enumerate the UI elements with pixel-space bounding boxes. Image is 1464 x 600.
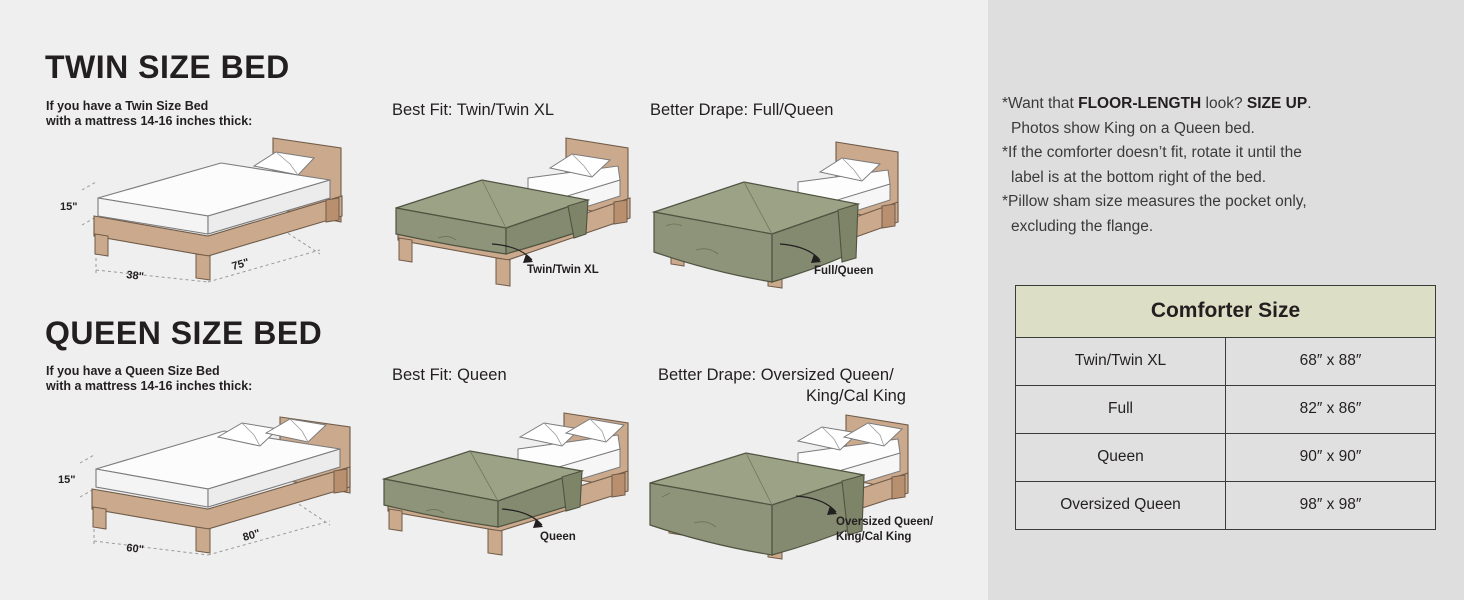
queen-better-drape-heading-line2: King/Cal King	[806, 386, 906, 407]
left-panel: TWIN SIZE BED If you have a Twin Size Be…	[0, 0, 988, 600]
comforter-size-table-body: Twin/Twin XL 68″ x 88″ Full 82″ x 86″ Qu…	[1016, 338, 1435, 530]
queen-better-drape-heading-line1: Better Drape: Oversized Queen/	[658, 365, 894, 386]
note-line-2: Photos show King on a Queen bed.	[1002, 117, 1454, 142]
table-row: Queen 90″ x 90″	[1016, 434, 1435, 482]
twin-section-subtitle-line1: If you have a Twin Size Bed	[46, 99, 208, 114]
table-row: Twin/Twin XL 68″ x 88″	[1016, 338, 1435, 386]
table-cell-measure: 98″ x 98″	[1226, 482, 1436, 530]
note-line-1: *Want that FLOOR-LENGTH look? SIZE UP.	[1002, 92, 1454, 117]
table-cell-size: Queen	[1016, 434, 1226, 482]
comforter-size-table: Comforter Size Twin/Twin XL 68″ x 88″ Fu…	[1015, 285, 1436, 530]
queen-better-drape-callout-line1: Oversized Queen/	[836, 515, 933, 529]
note-line-6: excluding the flange.	[1002, 215, 1454, 240]
queen-better-drape-callout-line2: King/Cal King	[836, 530, 911, 544]
queen-best-fit-bed-diagram	[370, 405, 640, 570]
right-panel: *Want that FLOOR-LENGTH look? SIZE UP. P…	[988, 0, 1464, 600]
twin-width-label: 38"	[126, 269, 145, 283]
twin-best-fit-heading: Best Fit: Twin/Twin XL	[392, 100, 554, 121]
table-cell-measure: 68″ x 88″	[1226, 338, 1436, 386]
queen-height-label: 15"	[58, 474, 75, 486]
note-line-3: *If the comforter doesn’t fit, rotate it…	[1002, 141, 1454, 166]
notes-block: *Want that FLOOR-LENGTH look? SIZE UP. P…	[1002, 92, 1454, 239]
queen-length-label: 80"	[242, 528, 262, 544]
table-cell-size: Full	[1016, 386, 1226, 434]
note-line-5: *Pillow sham size measures the pocket on…	[1002, 190, 1454, 215]
table-row: Full 82″ x 86″	[1016, 386, 1435, 434]
queen-section-subtitle-line2: with a mattress 14-16 inches thick:	[46, 379, 252, 394]
queen-best-fit-arrow	[500, 505, 556, 535]
table-cell-measure: 82″ x 86″	[1226, 386, 1436, 434]
table-cell-size: Twin/Twin XL	[1016, 338, 1226, 386]
twin-bed-diagram: 15" 38" 75"	[58, 130, 358, 295]
comforter-size-table-header: Comforter Size	[1016, 286, 1435, 338]
size-guide-page: TWIN SIZE BED If you have a Twin Size Be…	[0, 0, 1464, 600]
table-cell-measure: 90″ x 90″	[1226, 434, 1436, 482]
twin-better-drape-arrow	[778, 240, 834, 270]
queen-section-subtitle-line1: If you have a Queen Size Bed	[46, 364, 220, 379]
twin-better-drape-heading: Better Drape: Full/Queen	[650, 100, 833, 121]
twin-best-fit-bed-diagram	[378, 130, 638, 295]
twin-better-drape-bed-diagram	[640, 130, 920, 305]
queen-bed-diagram: 15" 60" 80"	[58, 405, 368, 575]
twin-length-label: 75"	[231, 257, 251, 273]
twin-section-title: TWIN SIZE BED	[45, 49, 290, 86]
queen-width-label: 60"	[126, 542, 145, 556]
queen-best-fit-heading: Best Fit: Queen	[392, 365, 507, 386]
twin-best-fit-arrow	[490, 240, 546, 270]
twin-section-subtitle-line2: with a mattress 14-16 inches thick:	[46, 114, 252, 129]
table-cell-size: Oversized Queen	[1016, 482, 1226, 530]
table-row: Oversized Queen 98″ x 98″	[1016, 482, 1435, 530]
note-line-4: label is at the bottom right of the bed.	[1002, 166, 1454, 191]
twin-height-label: 15"	[60, 201, 77, 213]
queen-better-drape-bed-diagram	[640, 405, 930, 580]
queen-better-drape-arrow	[794, 492, 850, 522]
queen-section-title: QUEEN SIZE BED	[45, 315, 322, 352]
